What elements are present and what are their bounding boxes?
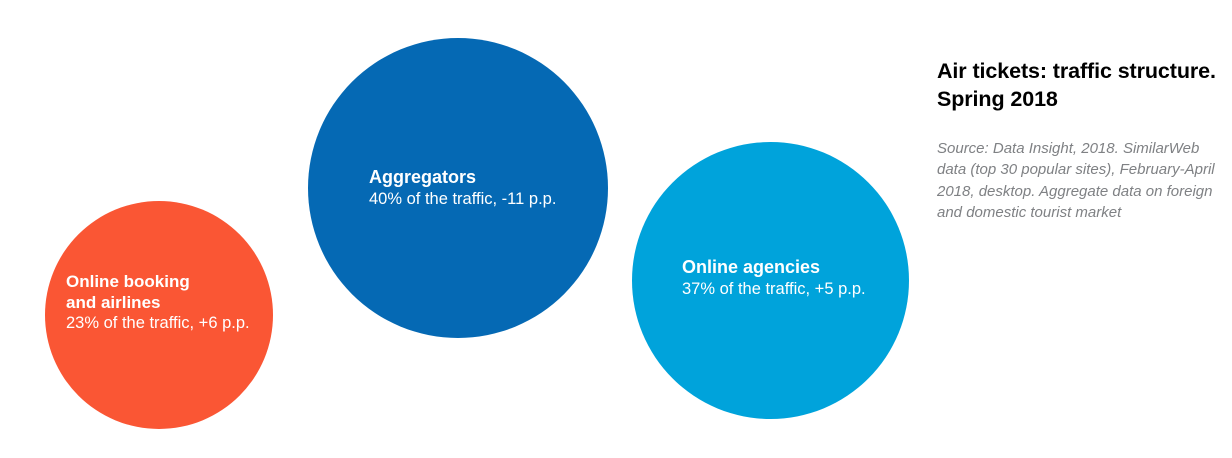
bubble-label-aggregators: Aggregators 40% of the traffic, -11 p.p. — [369, 166, 556, 209]
bubble-chart-canvas: Online booking and airlines 23% of the t… — [0, 0, 1232, 458]
bubble-label-online-booking-and-airlines: Online booking and airlines 23% of the t… — [66, 272, 250, 334]
bubble-name-line-2: and airlines — [66, 293, 250, 314]
chart-source-note: Source: Data Insight, 2018. SimilarWeb d… — [937, 113, 1220, 223]
bubble-value-aggregators: 40% of the traffic, -11 p.p. — [369, 190, 556, 209]
bubble-name-aggregators: Aggregators — [369, 166, 556, 189]
bubble-value-online-agencies: 37% of the traffic, +5 p.p. — [682, 280, 866, 299]
bubble-name-online-agencies: Online agencies — [682, 256, 866, 279]
bubble-label-online-agencies: Online agencies 37% of the traffic, +5 p… — [682, 256, 866, 299]
bubble-name-line-1: Online booking — [66, 272, 250, 293]
chart-title: Air tickets: traffic structure. Spring 2… — [937, 58, 1220, 113]
chart-text-panel: Air tickets: traffic structure. Spring 2… — [937, 58, 1220, 223]
bubble-value-online-booking-and-airlines: 23% of the traffic, +6 p.p. — [66, 314, 250, 333]
